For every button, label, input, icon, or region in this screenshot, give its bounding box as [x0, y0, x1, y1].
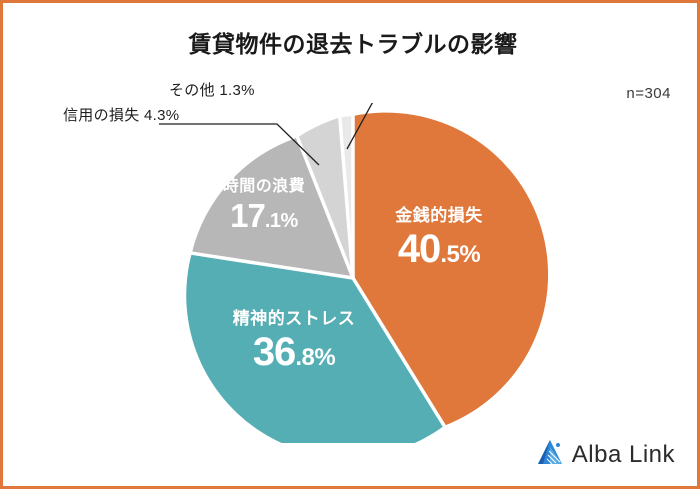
sample-size-annotation: n=304 — [626, 85, 671, 102]
pie-chart-svg — [153, 103, 553, 443]
alba-link-logo-text: Alba Link — [572, 441, 675, 469]
alba-link-triangle-icon — [534, 437, 564, 472]
pie-chart — [153, 103, 553, 443]
callout-label-other: その他 1.3% — [169, 79, 255, 100]
callout-label-credit: 信用の損失 4.3% — [63, 104, 179, 125]
page-title: 賃貸物件の退去トラブルの影響 — [3, 25, 700, 59]
chart-page: 賃貸物件の退去トラブルの影響 n=304 — [0, 0, 700, 489]
pie-slices — [186, 113, 548, 443]
alba-link-logo: Alba Link — [534, 437, 675, 472]
